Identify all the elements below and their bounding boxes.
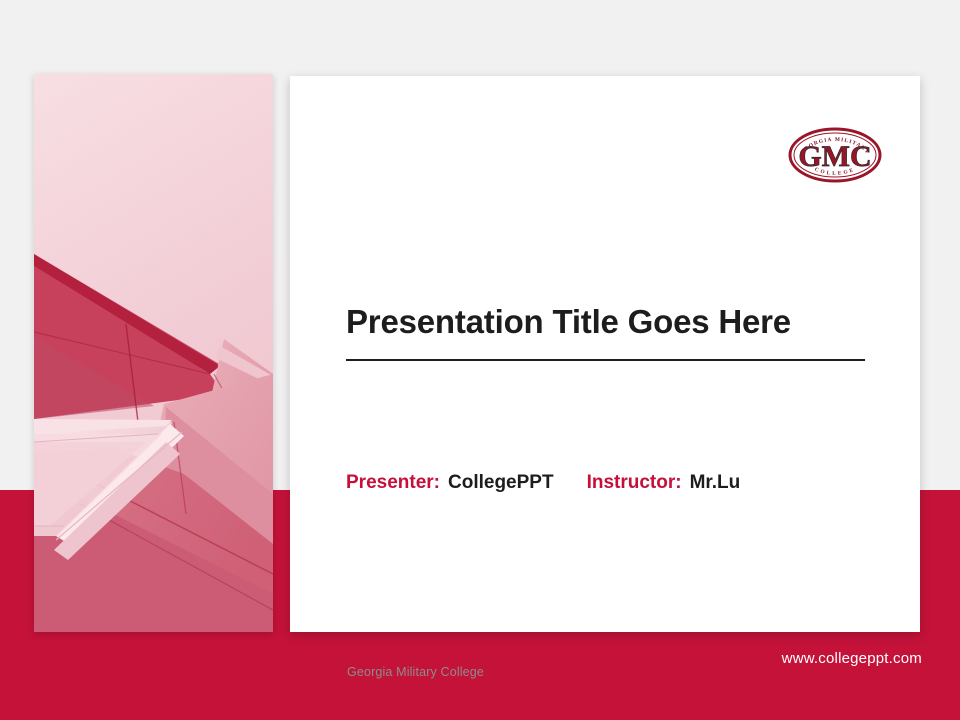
title-divider-rule xyxy=(346,359,865,361)
slide-footer-organization: Georgia Military College xyxy=(347,665,484,679)
presenter-label: Presenter: xyxy=(346,472,440,494)
site-url-label: www.collegeppt.com xyxy=(782,650,922,667)
gmc-crest-icon: GEORGIA MILITARY COLLEGE GMC xyxy=(785,124,885,186)
credits-row: Presenter: CollegePPT Instructor: Mr.Lu xyxy=(346,472,740,494)
gmc-logo: GEORGIA MILITARY COLLEGE GMC xyxy=(785,124,885,186)
abstract-architecture-image xyxy=(34,74,273,632)
presenter-credit: Presenter: CollegePPT xyxy=(346,472,554,494)
instructor-value: Mr.Lu xyxy=(690,472,741,494)
instructor-label: Instructor: xyxy=(587,472,682,494)
slide-card: GEORGIA MILITARY COLLEGE GMC Presentatio… xyxy=(290,76,920,632)
slide-preview-stage: www.collegeppt.com xyxy=(0,0,960,720)
presenter-value: CollegePPT xyxy=(448,472,554,494)
title-block: Presentation Title Goes Here xyxy=(346,304,866,361)
slide-title: Presentation Title Goes Here xyxy=(346,304,866,341)
logo-monogram-text: GMC xyxy=(798,140,871,173)
instructor-credit: Instructor: Mr.Lu xyxy=(587,472,741,494)
decorative-photo-panel xyxy=(34,74,273,632)
